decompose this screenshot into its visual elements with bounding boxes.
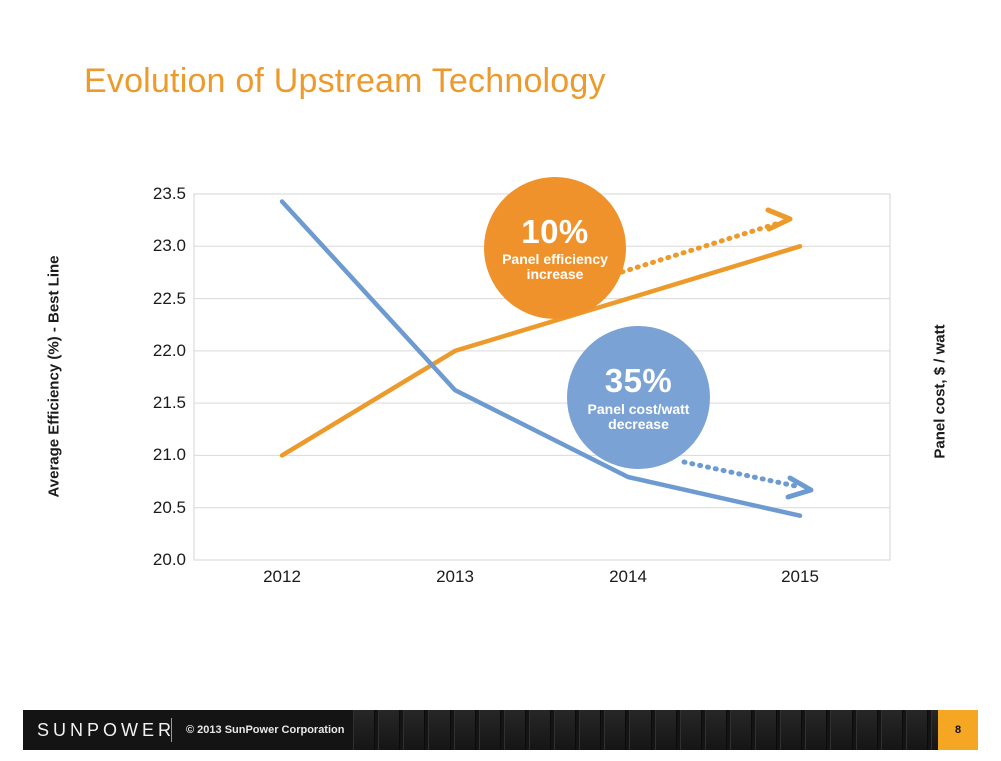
- y-tick-label: 22.5: [128, 289, 186, 309]
- x-tick-label: 2013: [415, 567, 495, 587]
- y-tick-label: 21.0: [128, 445, 186, 465]
- x-tick-label: 2015: [760, 567, 840, 587]
- callout-cost-value: 35%: [605, 363, 673, 399]
- page-number-badge: 8: [938, 710, 978, 750]
- x-tick-label: 2014: [588, 567, 668, 587]
- x-tick-label: 2012: [242, 567, 322, 587]
- callout-efficiency-line2: increase: [527, 267, 584, 282]
- y-tick-label: 20.0: [128, 550, 186, 570]
- callout-efficiency-value: 10%: [521, 214, 589, 250]
- callout-efficiency: 10% Panel efficiency increase: [484, 177, 626, 319]
- logo-text-pre: SUNP: [37, 720, 103, 740]
- footer-bar: SUNPOWER © 2013 SunPower Corporation: [23, 710, 978, 750]
- callout-cost: 35% Panel cost/watt decrease: [567, 326, 710, 469]
- logo-text-o: O: [103, 720, 121, 741]
- copyright-text: © 2013 SunPower Corporation: [186, 724, 344, 736]
- y-tick-label: 22.0: [128, 341, 186, 361]
- y-tick-label: 20.5: [128, 498, 186, 518]
- y-tick-label: 23.5: [128, 184, 186, 204]
- y-tick-label: 23.0: [128, 236, 186, 256]
- y-axis-title: Average Efficiency (%) - Best Line: [46, 237, 63, 517]
- logo-divider: [171, 718, 172, 742]
- sunpower-logo: SUNPOWER: [37, 720, 175, 741]
- y-tick-label: 21.5: [128, 393, 186, 413]
- chart-container: 23.5 23.0 22.5 22.0 21.5 21.0 20.5 20.0 …: [0, 0, 1001, 700]
- callout-cost-line2: decrease: [608, 417, 669, 432]
- callout-efficiency-line1: Panel efficiency: [502, 252, 608, 267]
- y2-axis-title: Panel cost, $ / watt: [932, 252, 949, 532]
- solar-panel-pattern: [353, 710, 953, 750]
- logo-text-post: WER: [121, 720, 175, 740]
- callout-cost-line1: Panel cost/watt: [588, 402, 690, 417]
